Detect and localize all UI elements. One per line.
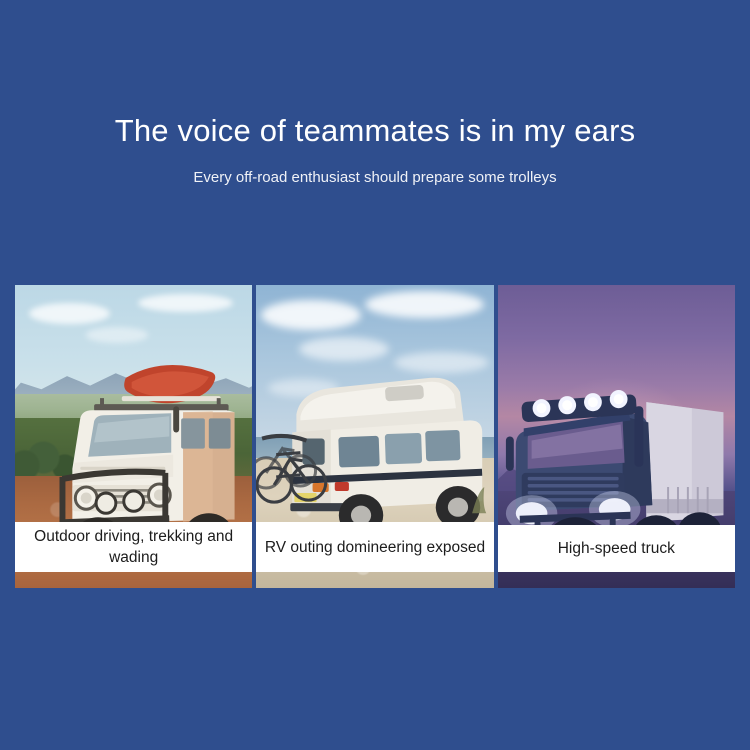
card-truck[interactable]: High-speed truck — [498, 285, 735, 588]
promo-banner: The voice of teammates is in my ears Eve… — [0, 0, 750, 750]
card-rv[interactable]: RV outing domineering exposed — [256, 285, 493, 588]
card-offroad[interactable]: Outdoor driving, trekking and wading — [15, 285, 252, 588]
card-truck-caption: High-speed truck — [498, 525, 735, 572]
feature-card-row: Outdoor driving, trekking and wading — [15, 285, 735, 588]
card-rv-caption: RV outing domineering exposed — [256, 522, 493, 572]
page-subtitle: Every off-road enthusiast should prepare… — [0, 167, 750, 189]
page-title: The voice of teammates is in my ears — [0, 112, 750, 150]
card-offroad-caption: Outdoor driving, trekking and wading — [15, 522, 252, 572]
